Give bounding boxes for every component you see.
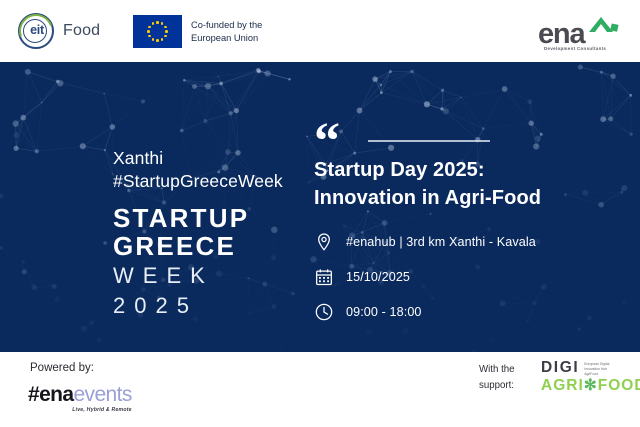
sgw-line-week: WEEK <box>113 262 303 291</box>
support-line-2: support: <box>479 378 515 394</box>
eu-line-2: European Union <box>191 32 262 44</box>
detail-text-location: #enahub | 3rd km Xanthi - Kavala <box>346 235 536 249</box>
eit-mark-text: eit <box>24 23 50 37</box>
digi-word: DIGI <box>541 360 579 376</box>
eu-cofunded-logo: Co-funded by the European Union <box>133 15 262 48</box>
quote-decoration: “ <box>296 122 616 152</box>
sgw-line-year: 2025 <box>113 292 303 321</box>
eu-flag-icon <box>133 15 182 48</box>
event-poster: eit Food Co-funded by the European Union… <box>0 0 640 427</box>
agri-word: AGRI <box>541 377 584 394</box>
detail-row-date: 15/10/2025 <box>314 267 616 287</box>
ena-events-tagline: Live, Hybrid & Remote <box>28 407 132 413</box>
city-label: Xanthi <box>113 147 298 170</box>
ena-chevron-icon <box>586 12 620 43</box>
header-bar: eit Food Co-funded by the European Union… <box>0 0 640 62</box>
food-word: FOOD <box>598 377 640 394</box>
hashtag-label: #StartupGreeceWeek <box>113 170 298 193</box>
eit-wordmark: Food <box>63 22 100 40</box>
eu-cofunded-text: Co-funded by the European Union <box>191 19 262 44</box>
ena-events-hash: #ena <box>28 383 73 406</box>
sgw-line-greece: GREECE <box>113 233 303 261</box>
eu-line-1: Co-funded by the <box>191 19 262 31</box>
right-column: “ Startup Day 2025: Innovation in Agri-F… <box>296 122 616 337</box>
eit-food-logo-icon: eit <box>18 13 56 49</box>
ena-events-logo: #enaevents Live, Hybrid & Remote <box>28 384 132 413</box>
main-blue-panel: Xanthi #StartupGreeceWeek STARTUP GREECE… <box>0 62 640 352</box>
ena-events-wordmark: #enaevents <box>28 384 132 405</box>
left-column: Xanthi #StartupGreeceWeek <box>113 147 298 194</box>
agrifood-word: AGRI✻FOOD <box>541 378 637 394</box>
detail-text-date: 15/10/2025 <box>346 270 410 284</box>
digi-agrifood-logo: DIGI European Digital Innovation Hub Agr… <box>541 360 637 395</box>
calendar-icon <box>314 267 334 287</box>
sgw-line-startup: STARTUP <box>113 205 303 233</box>
clock-icon <box>314 302 334 322</box>
detail-row-time: 09:00 - 18:00 <box>314 302 616 322</box>
quote-mark-icon: “ <box>314 116 340 168</box>
ena-events-events: events <box>73 383 131 406</box>
support-line-1: With the <box>479 362 515 378</box>
with-the-support-label: With the support: <box>479 362 515 394</box>
event-details-list: #enahub | 3rd km Xanthi - Kavala <box>296 232 616 322</box>
ena-logo: ena Development Consultants <box>522 8 626 54</box>
leaf-icon: ✻ <box>584 377 598 394</box>
startup-greece-week-logo: STARTUP GREECE WEEK 2025 <box>113 205 303 320</box>
detail-text-time: 09:00 - 18:00 <box>346 305 422 319</box>
event-title: Startup Day 2025: Innovation in Agri-Foo… <box>296 156 616 212</box>
digi-note: European Digital Innovation Hub AgriFood <box>584 360 609 377</box>
ena-subtitle: Development Consultants <box>544 46 606 51</box>
location-pin-icon <box>314 232 334 252</box>
horizontal-rule <box>368 140 490 142</box>
detail-row-location: #enahub | 3rd km Xanthi - Kavala <box>314 232 616 252</box>
event-title-line-1: Startup Day 2025: <box>314 156 616 184</box>
ena-wordmark: ena <box>538 20 584 49</box>
event-title-line-2: Innovation in Agri-Food <box>314 184 616 212</box>
eit-food-logo: eit Food <box>18 13 100 49</box>
powered-by-label: Powered by: <box>30 362 94 374</box>
footer-bar: Powered by: #enaevents Live, Hybrid & Re… <box>0 352 640 427</box>
